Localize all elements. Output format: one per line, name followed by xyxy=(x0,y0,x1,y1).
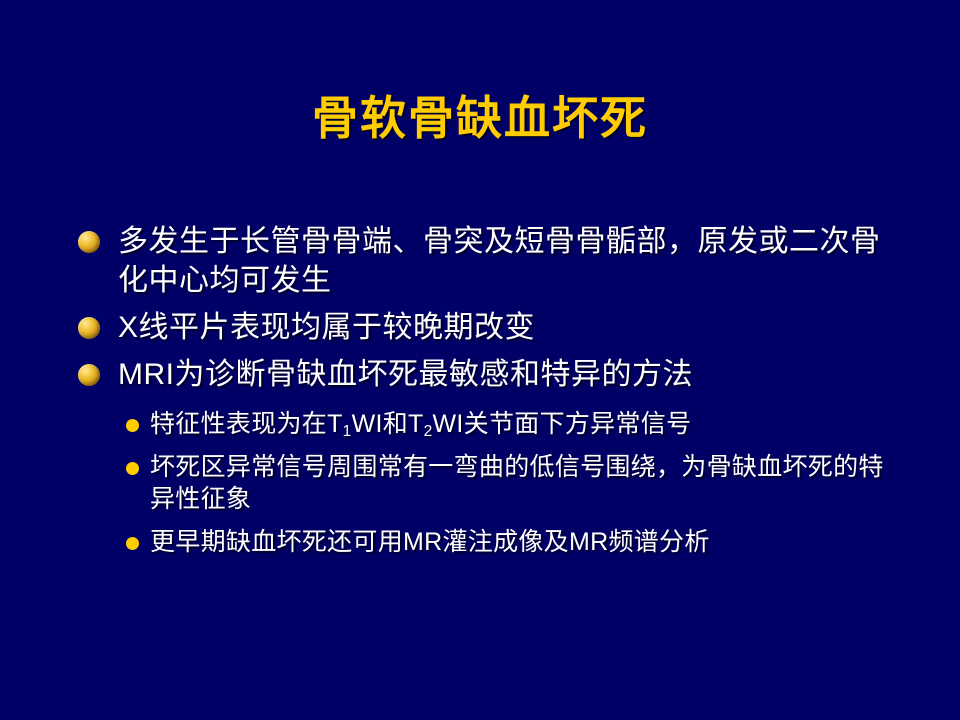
sub-bullet-list: 特征性表现为在T1WI和T2WI关节面下方异常信号 坏死区异常信号周围常有一弯曲… xyxy=(70,408,900,558)
gold-sphere-bullet-icon xyxy=(78,231,100,253)
sub-list-item: 坏死区异常信号周围常有一弯曲的低信号围绕，为骨缺血坏死的特异性征象 xyxy=(120,451,900,515)
sub-list-item: 特征性表现为在T1WI和T2WI关节面下方异常信号 xyxy=(120,408,900,440)
presentation-slide: 骨软骨缺血坏死 多发生于长管骨骨端、骨突及短骨骨骺部，原发或二次骨化中心均可发生… xyxy=(0,0,960,720)
gold-sphere-bullet-icon xyxy=(78,317,100,339)
list-item-label: MRI为诊断骨缺血坏死最敏感和特异的方法 xyxy=(118,355,900,394)
gold-sphere-bullet-icon xyxy=(78,364,100,386)
list-item-label: 多发生于长管骨骨端、骨突及短骨骨骺部，原发或二次骨化中心均可发生 xyxy=(118,222,900,300)
yellow-dot-bullet-icon xyxy=(126,537,139,550)
sub-list-item: 更早期缺血坏死还可用MR灌注成像及MR频谱分析 xyxy=(120,526,900,558)
page-title: 骨软骨缺血坏死 xyxy=(0,92,960,145)
sub-list-item-label: 坏死区异常信号周围常有一弯曲的低信号围绕，为骨缺血坏死的特异性征象 xyxy=(150,451,900,515)
sub-list-item-label: 特征性表现为在T1WI和T2WI关节面下方异常信号 xyxy=(150,408,900,440)
list-item: MRI为诊断骨缺血坏死最敏感和特异的方法 xyxy=(70,355,900,394)
bullet-list: 多发生于长管骨骨端、骨突及短骨骨骺部，原发或二次骨化中心均可发生 X线平片表现均… xyxy=(70,222,900,569)
list-item: 多发生于长管骨骨端、骨突及短骨骨骺部，原发或二次骨化中心均可发生 xyxy=(70,222,900,300)
list-item-label: X线平片表现均属于较晚期改变 xyxy=(118,308,900,347)
sub-list-item-label: 更早期缺血坏死还可用MR灌注成像及MR频谱分析 xyxy=(150,526,900,558)
yellow-dot-bullet-icon xyxy=(126,462,139,475)
list-item: X线平片表现均属于较晚期改变 xyxy=(70,308,900,347)
yellow-dot-bullet-icon xyxy=(126,419,139,432)
